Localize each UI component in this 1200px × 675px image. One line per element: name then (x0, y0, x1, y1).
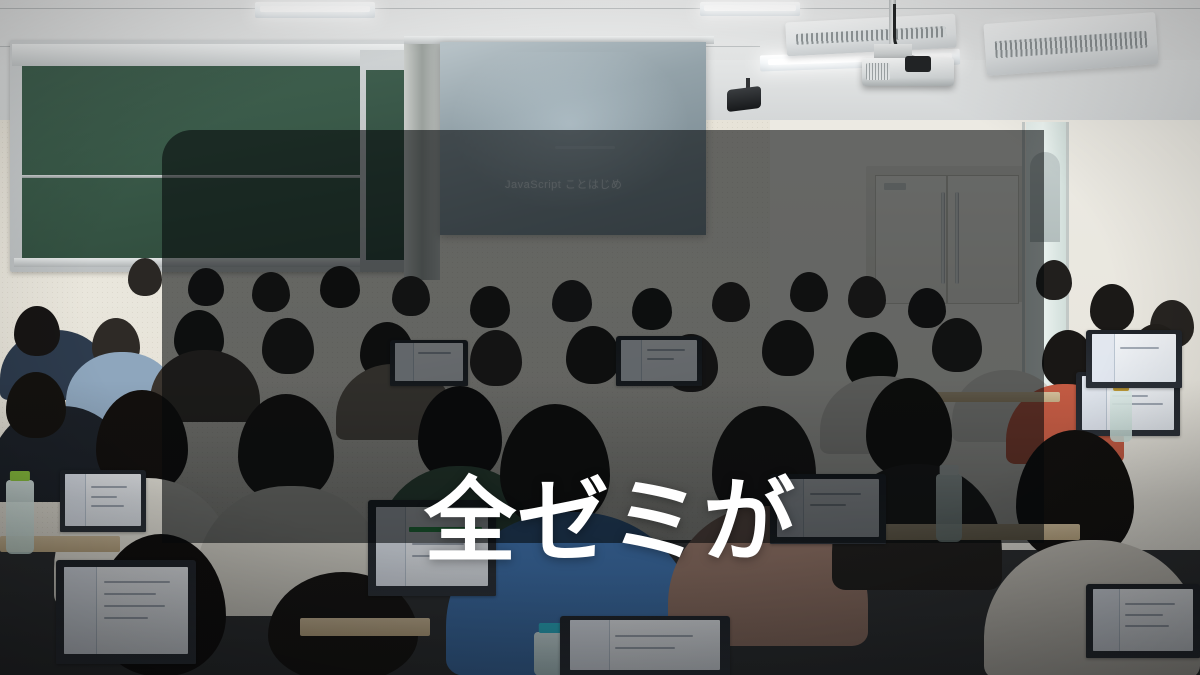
laptop[interactable] (1086, 330, 1182, 388)
student-head (252, 272, 290, 312)
door-handle (941, 192, 945, 284)
glass-arc (1030, 152, 1060, 242)
laptop[interactable] (56, 560, 196, 664)
fluorescent-light (255, 2, 375, 18)
door-handle (955, 192, 959, 284)
headline-line-1: 全ゼミが (336, 461, 896, 583)
projector-lens (866, 63, 890, 80)
student-head (188, 268, 224, 306)
student-head (1090, 284, 1134, 332)
desk (880, 524, 1080, 540)
laptop[interactable] (1086, 584, 1200, 658)
student-head (1036, 260, 1072, 300)
projector-connector (905, 56, 931, 72)
blackboard-divider (22, 175, 397, 178)
door-sign (884, 183, 906, 190)
headline-text: 全ゼミが 開始しました (336, 216, 896, 675)
laptop[interactable] (60, 470, 146, 532)
desk (930, 392, 1060, 402)
student-head (908, 288, 946, 328)
fluorescent-light (700, 2, 800, 16)
water-bottle[interactable] (936, 474, 962, 542)
drink-can[interactable] (1110, 390, 1132, 442)
wall-speaker (727, 86, 761, 112)
ceiling-panel-line (0, 8, 1200, 9)
water-bottle[interactable] (6, 480, 34, 554)
student-head (128, 258, 162, 296)
student-head (932, 318, 982, 372)
student-head (262, 318, 314, 374)
student-head (14, 306, 60, 356)
slide-title: JavaScript ことはじめ (505, 176, 705, 192)
blackboard-top-rail (12, 44, 408, 66)
screenshot-root: JavaScript ことはじめ (0, 0, 1200, 675)
slide-underline (555, 146, 615, 149)
